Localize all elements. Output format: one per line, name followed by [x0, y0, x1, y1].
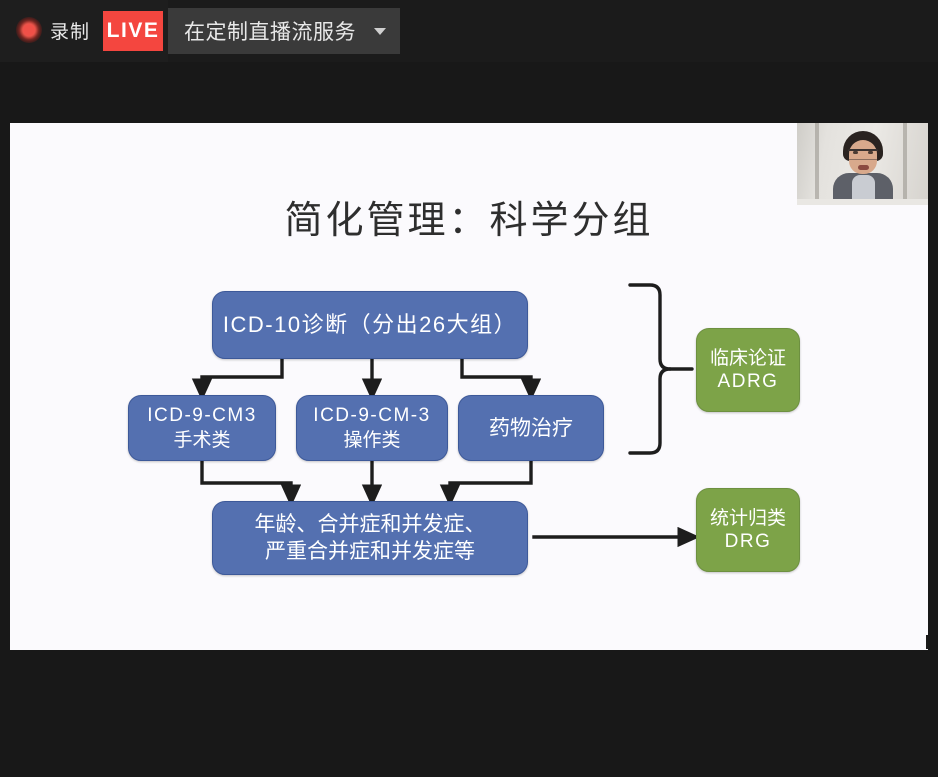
presentation-slide: 简化管理：科学分组: [10, 123, 928, 650]
bottom-letterbox-area: [0, 650, 938, 777]
recording-label: 录制: [50, 17, 90, 44]
node-adrg-line1: 临床论证: [710, 346, 786, 370]
node-age-comorbidity-line2: 严重合并症和并发症等: [265, 538, 475, 565]
record-dot-icon: [16, 17, 42, 43]
node-icd9cm3-operation: ICD-9-CM-3 操作类: [296, 395, 448, 461]
webcam-bottom-strip: [797, 199, 928, 205]
node-icd9cm3-surgery-line1: ICD-9-CM3: [147, 404, 257, 428]
node-icd10-line1: ICD-10诊断（分出26大组）: [223, 311, 517, 339]
node-drug-therapy: 药物治疗: [458, 395, 604, 461]
node-adrg-line2: ADRG: [718, 370, 779, 394]
node-adrg: 临床论证 ADRG: [696, 328, 800, 412]
node-drg-line2: DRG: [725, 530, 772, 554]
node-age-comorbidity-line1: 年龄、合并症和并发症、: [255, 511, 486, 538]
live-badge: LIVE: [103, 11, 163, 51]
webcam-wall-strip-right: [903, 123, 907, 205]
node-icd10-diagnosis: ICD-10诊断（分出26大组）: [212, 291, 528, 359]
presenter-video-thumbnail[interactable]: [797, 123, 928, 205]
webcam-eye-right: [868, 151, 873, 154]
node-icd9cm3-operation-line2: 操作类: [343, 428, 400, 452]
screen-root: 录制 LIVE 在定制直播流服务 简化管理：科学分组: [0, 0, 938, 777]
node-icd9cm3-surgery: ICD-9-CM3 手术类: [128, 395, 276, 461]
node-age-comorbidity: 年龄、合并症和并发症、 严重合并症和并发症等: [212, 501, 528, 575]
node-drg-line1: 统计归类: [710, 506, 786, 530]
webcam-wall-strip-left: [815, 123, 819, 205]
node-drug-therapy-line1: 药物治疗: [489, 415, 573, 442]
slide-edge-artifact: [926, 635, 928, 649]
stream-service-dropdown[interactable]: 在定制直播流服务: [168, 8, 400, 54]
recording-indicator[interactable]: 录制: [16, 12, 90, 48]
chevron-down-icon[interactable]: [374, 28, 386, 35]
webcam-mouth: [858, 165, 869, 170]
node-icd9cm3-surgery-line2: 手术类: [173, 428, 230, 452]
live-toolbar: 录制 LIVE 在定制直播流服务: [0, 0, 938, 62]
node-drg: 统计归类 DRG: [696, 488, 800, 572]
node-icd9cm3-operation-line1: ICD-9-CM-3: [313, 404, 430, 428]
stream-service-label: 在定制直播流服务: [184, 16, 356, 46]
webcam-eye-left: [853, 151, 858, 154]
